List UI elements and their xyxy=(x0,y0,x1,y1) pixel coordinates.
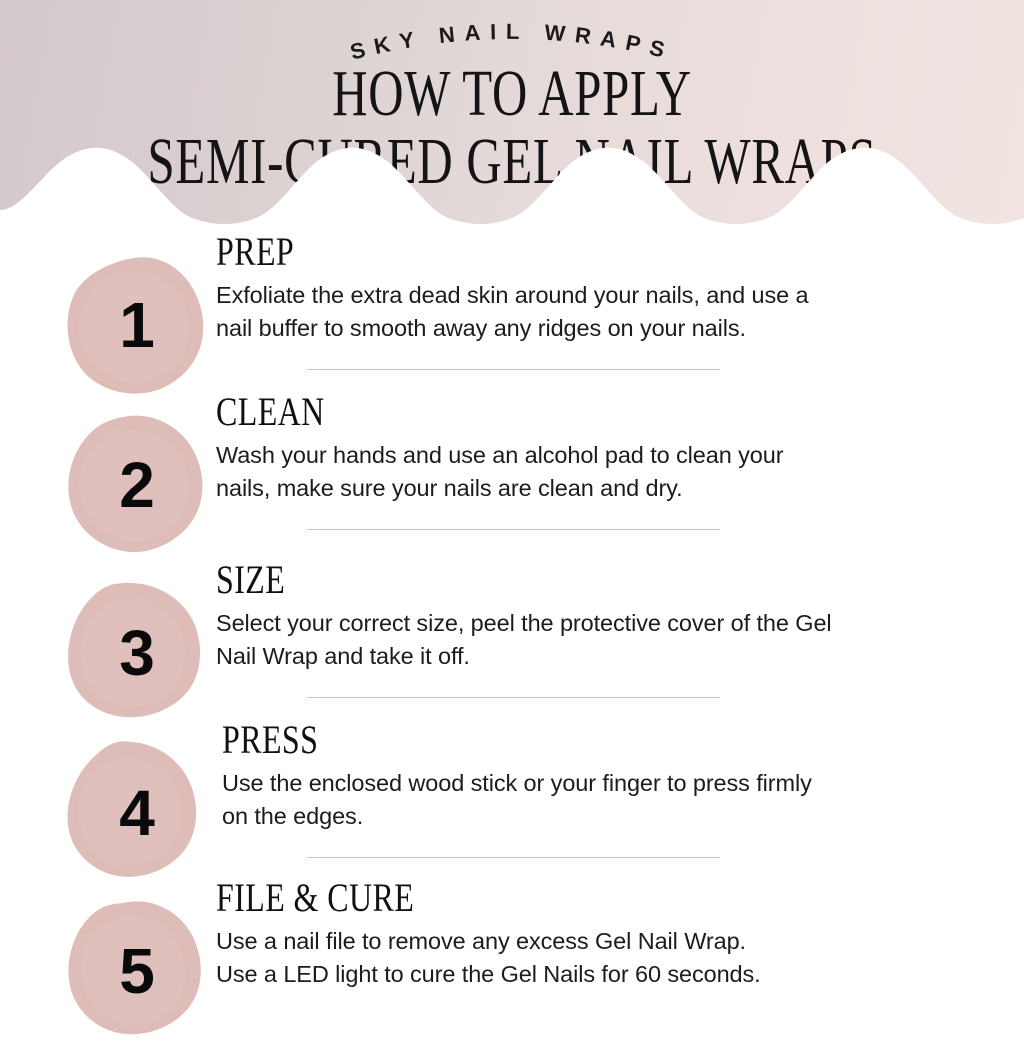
step-divider-1 xyxy=(308,369,720,370)
step-body-line-5-a: Use a nail file to remove any excess Gel… xyxy=(216,925,1006,958)
title-line-1: HOW TO APPLY xyxy=(133,62,891,126)
step-number-badge-4: 4 xyxy=(62,738,212,888)
step-number-badge-3: 3 xyxy=(62,578,212,728)
step-body-line-4-a: Use the enclosed wood stick or your fing… xyxy=(222,767,982,800)
step-body-line-3-a: Select your correct size, peel the prote… xyxy=(216,607,976,640)
step-divider-4 xyxy=(308,857,720,858)
step-divider-2 xyxy=(308,529,720,530)
step-body-line-5-b: Use a LED light to cure the Gel Nails fo… xyxy=(216,958,1006,991)
step-body-line-2-b: nails, make sure your nails are clean an… xyxy=(216,472,976,505)
step-content-4: PRESS Use the enclosed wood stick or you… xyxy=(222,720,982,833)
step-number-4: 4 xyxy=(62,738,212,888)
step-number-1: 1 xyxy=(62,250,212,400)
step-number-3: 3 xyxy=(62,578,212,728)
step-heading-5: FILE & CURE xyxy=(216,878,848,918)
wave-divider-icon xyxy=(0,146,1024,232)
step-body-line-1-a: Exfoliate the extra dead skin around you… xyxy=(216,279,976,312)
step-body-line-3-b: Nail Wrap and take it off. xyxy=(216,640,976,673)
step-divider-3 xyxy=(308,697,720,698)
step-heading-3: SIZE xyxy=(216,560,824,600)
step-content-5: FILE & CURE Use a nail file to remove an… xyxy=(216,878,1006,991)
step-number-badge-2: 2 xyxy=(62,410,212,560)
step-body-line-2-a: Wash your hands and use an alcohol pad t… xyxy=(216,439,976,472)
step-body-line-4-b: on the edges. xyxy=(222,800,982,833)
step-content-1: PREP Exfoliate the extra dead skin aroun… xyxy=(216,232,976,345)
step-number-2: 2 xyxy=(62,410,212,560)
step-heading-2: CLEAN xyxy=(216,392,824,432)
step-content-2: CLEAN Wash your hands and use an alcohol… xyxy=(216,392,976,505)
step-heading-1: PREP xyxy=(216,232,824,272)
step-number-badge-1: 1 xyxy=(62,250,212,400)
step-body-line-1-b: nail buffer to smooth away any ridges on… xyxy=(216,312,976,345)
step-content-3: SIZE Select your correct size, peel the … xyxy=(216,560,976,673)
step-heading-4: PRESS xyxy=(222,720,830,760)
header-banner: SKY NAIL WRAPS HOW TO APPLY SEMI-CURED G… xyxy=(0,0,1024,232)
